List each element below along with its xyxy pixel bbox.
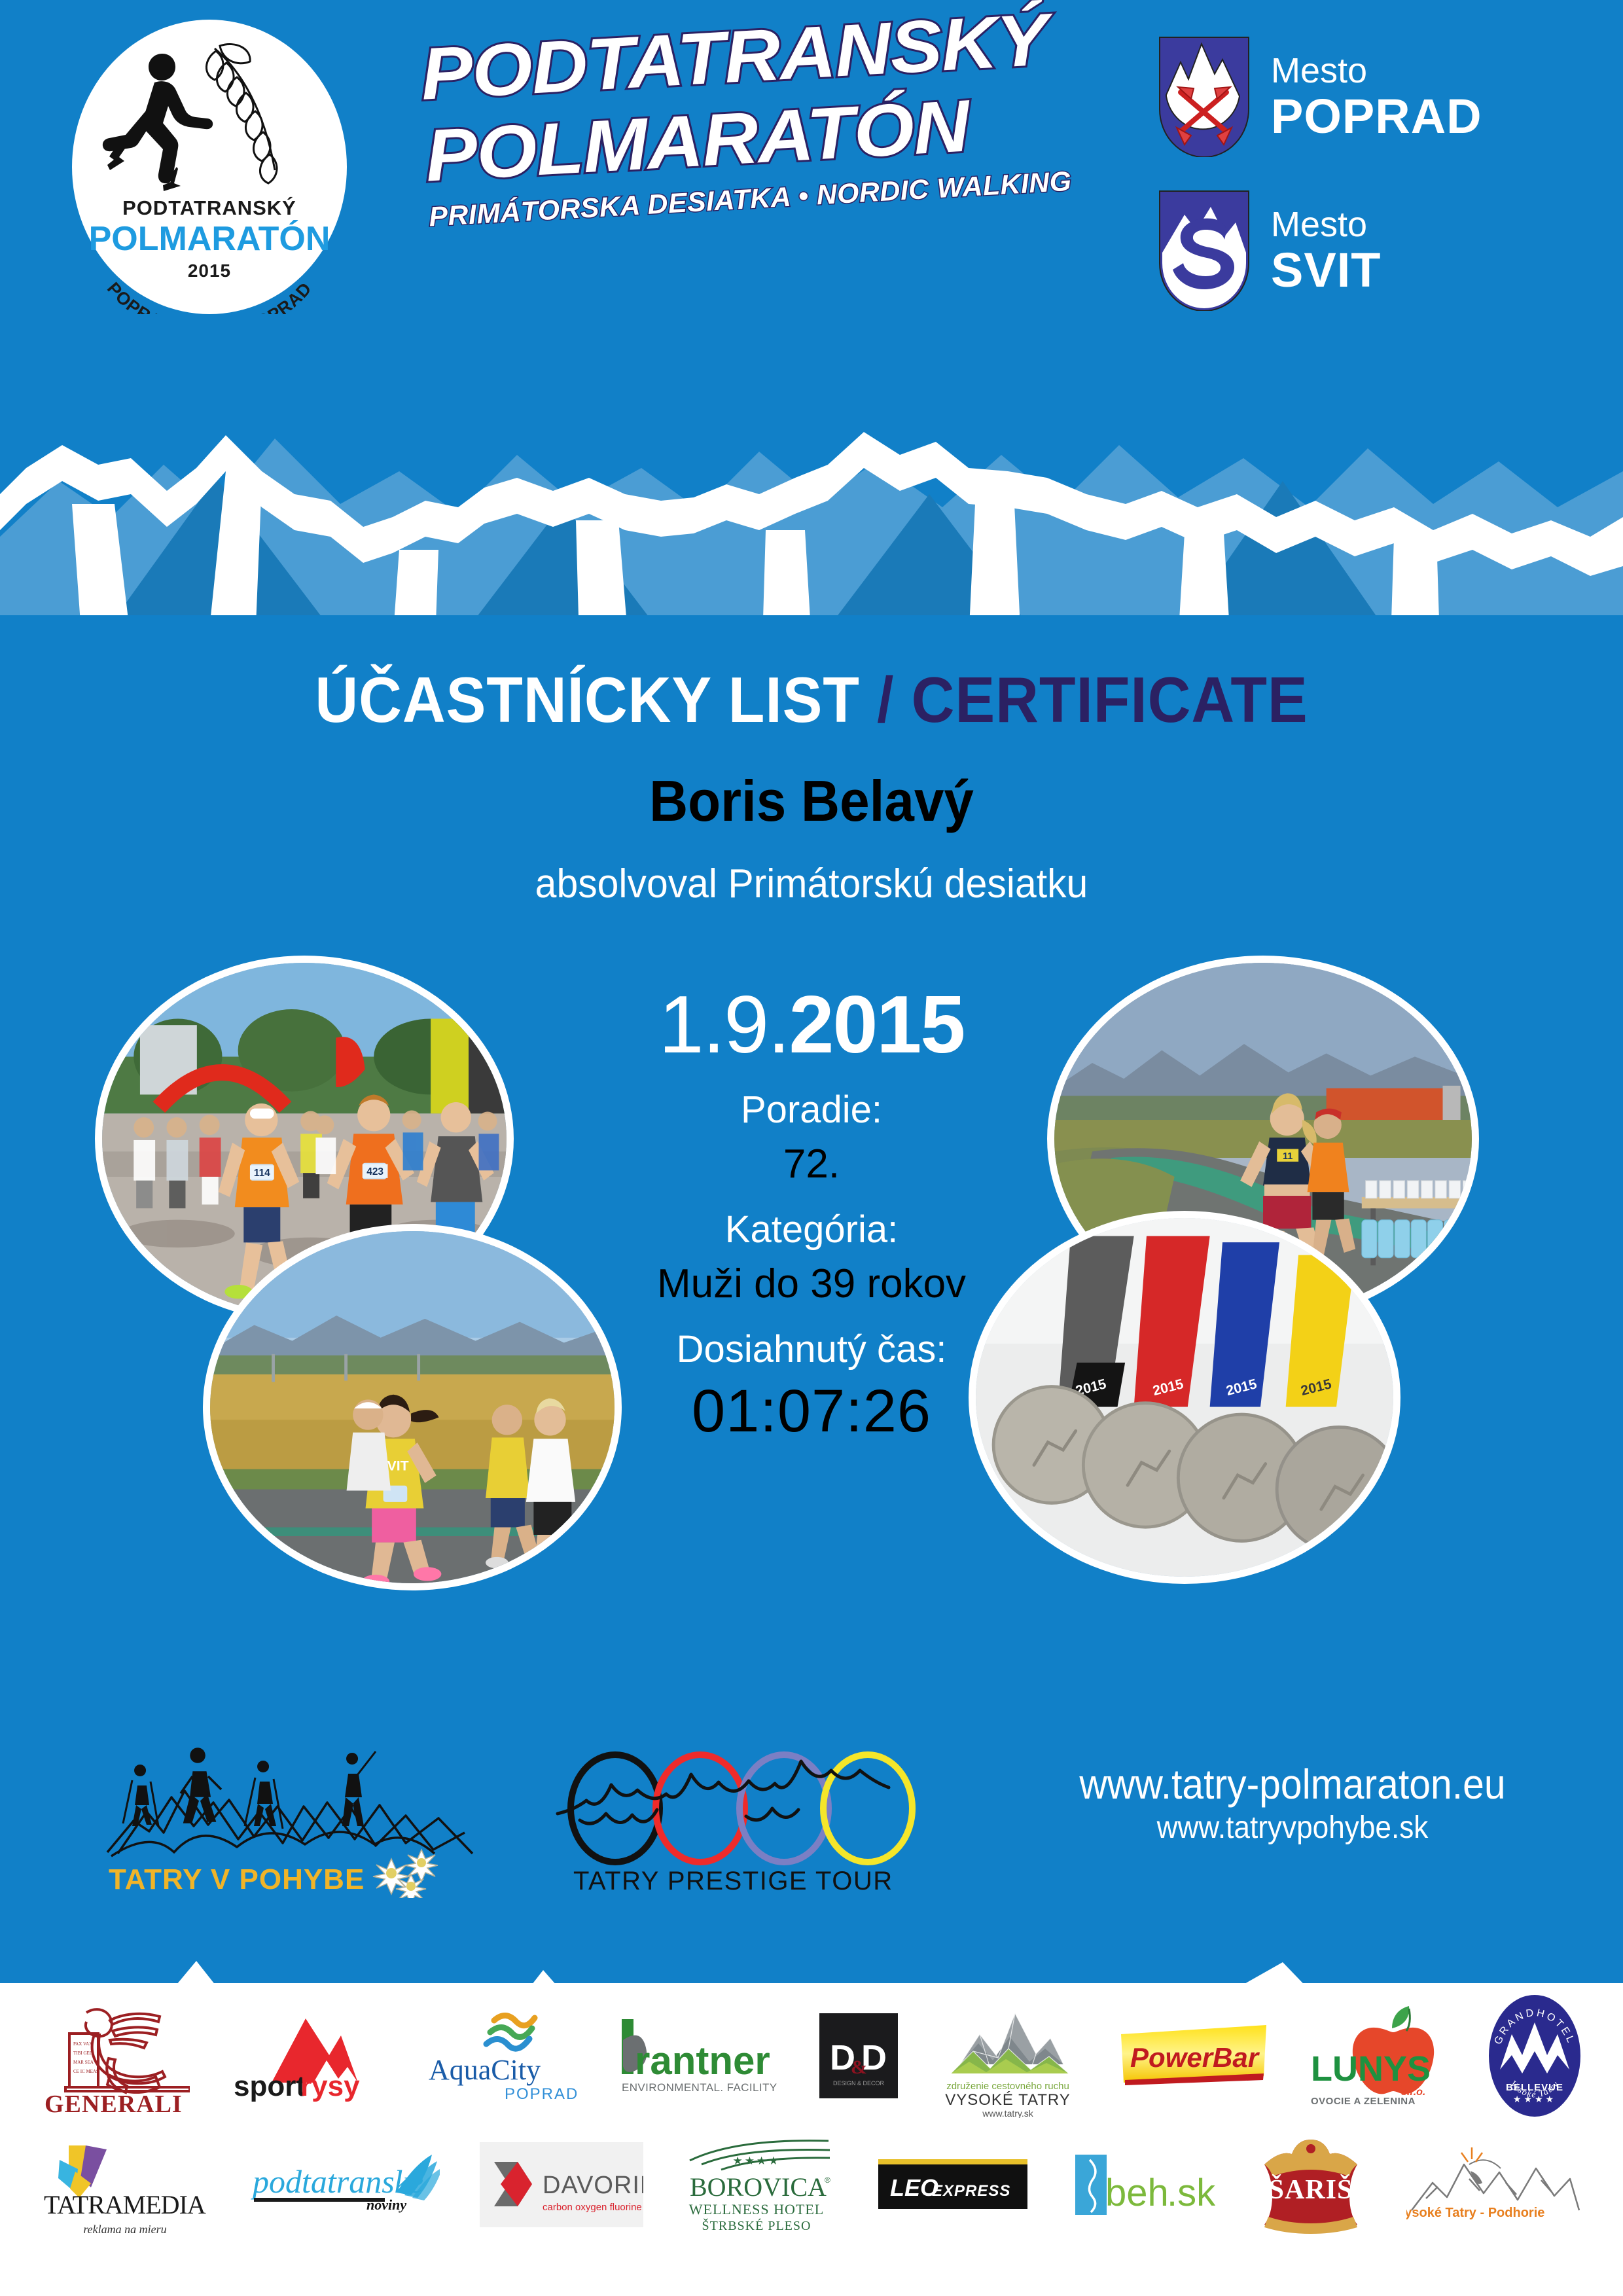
sponsor-podtatranske-tagline: noviny: [366, 2197, 406, 2213]
result-block: 1.9.2015 Poradie: 72. Kategória: Muži do…: [569, 982, 1054, 1444]
sponsor-davorin-tagline: carbon oxygen fluorine: [543, 2202, 642, 2213]
category-label: Kategória:: [569, 1206, 1054, 1254]
time-value: 01:07:26: [569, 1378, 1054, 1444]
event-date-year: 2015: [789, 980, 964, 1070]
sponsor-row-2: TATRAMEDIA reklama na mieru podtatranské…: [20, 2119, 1603, 2250]
badge-line-podtatransky: PODTATRANSKÝ: [72, 196, 347, 220]
sponsor-borovica-subtagline: ŠTRBSKÉ PLESO: [702, 2217, 811, 2233]
svg-text:PAX VAX: PAX VAX: [73, 2041, 92, 2047]
event-date-daymonth: 1.9.: [659, 980, 789, 1070]
event-title-block: PODTATRANSKÝ POLMARATÓN PRIMÁTORSKA DESI…: [419, 0, 1128, 323]
sponsor-leo-express[interactable]: LEO EXPRESS: [874, 2119, 1031, 2250]
url-primary[interactable]: www.tatry-polmaraton.eu: [988, 1761, 1596, 1809]
sponsor-powerbar[interactable]: PowerBar: [1118, 1992, 1269, 2119]
tatry-v-pohybe-label: TATRY V POHYBE: [109, 1863, 365, 1895]
edelweiss-icon: [373, 1850, 438, 1898]
sponsor-grandhotel-bellevue[interactable]: GRANDHOTEL BELLEVUE ★★★★ Vysoké Tatry: [1486, 1992, 1584, 2119]
sponsor-vysoke-tatry-podhorie-label: Vysoké Tatry - Podhorie: [1406, 2206, 1544, 2220]
sponsor-sportrysy-label: rysy: [300, 2070, 360, 2102]
svg-text:TIBI GELI: TIBI GELI: [73, 2051, 94, 2056]
sponsor-leo-label: LEO: [890, 2174, 938, 2201]
tatry-prestige-tour-label: TATRY PRESTIGE TOUR: [573, 1867, 893, 1895]
sponsor-aquacity[interactable]: AquaCity POPRAD: [426, 1992, 577, 2119]
svg-text:423: 423: [366, 1166, 383, 1177]
sponsor-lunys-label: LUNYS: [1311, 2049, 1431, 2089]
sponsor-tatramedia[interactable]: TATRAMEDIA reklama na mieru: [40, 2119, 210, 2250]
sponsor-footer: PAX VAXTIBI GELI MAR SEACE IC MEAS GENER…: [0, 1983, 1623, 2296]
sponsor-borovica-tagline: WELLNESS HOTEL: [689, 2201, 824, 2217]
city-logo-poprad: Mesto POPRAD: [1158, 36, 1482, 157]
sponsor-vysoke-tatry[interactable]: združenie cestovného ruchu VYSOKÉ TATRY …: [938, 1992, 1079, 2119]
certificate-title-separator: /: [860, 664, 912, 736]
city-name-poprad: POPRAD: [1271, 92, 1482, 141]
rank-value: 72.: [569, 1140, 1054, 1189]
sponsor-borovica[interactable]: ★★★★ BOROVICA ® WELLNESS HOTEL ŠTRBSKÉ P…: [683, 2119, 834, 2250]
sponsor-vysoke-tatry-url[interactable]: www.tatry.sk: [982, 2108, 1034, 2118]
sponsor-leo-tagline: EXPRESS: [932, 2182, 1010, 2200]
sponsor-brantner[interactable]: rantner ENVIRONMENTAL. FACILITY SERVICES: [616, 1992, 780, 2119]
svg-text:®: ®: [825, 2176, 830, 2185]
sponsor-vysoke-tatry-label: VYSOKÉ TATRY: [945, 2091, 1071, 2109]
participant-name: Boris Belavý: [57, 772, 1566, 830]
sponsor-saris[interactable]: ŠARIŠ: [1255, 2119, 1366, 2250]
poprad-coat-of-arms-icon: [1158, 36, 1250, 157]
website-urls: www.tatry-polmaraton.eu www.tatryvpohybe…: [962, 1761, 1623, 1846]
city-logo-svit: Mesto SVIT: [1158, 190, 1381, 311]
sponsor-tatramedia-tagline: reklama na mieru: [83, 2223, 166, 2236]
sponsor-sportrysy[interactable]: sport rysy: [230, 1992, 387, 2119]
sponsor-lunys[interactable]: LUNYS s.r.o. OVOCIE A ZELENINA: [1308, 1992, 1446, 2119]
sponsor-brantner-tagline: ENVIRONMENTAL. FACILITY SERVICES: [622, 2081, 780, 2094]
mountain-band-graphic: [0, 340, 1623, 641]
sponsor-behsk[interactable]: beh .sk: [1071, 2119, 1215, 2250]
sponsor-behsk-label: beh: [1105, 2172, 1169, 2214]
badge-route-arc: POPRAD - SVIT - POPRAD: [72, 245, 347, 314]
svg-text:CE IC MEAS: CE IC MEAS: [73, 2069, 99, 2074]
city-name-svit: SVIT: [1271, 246, 1381, 295]
svg-text:sport: sport: [234, 2070, 306, 2102]
tatry-prestige-tour-logo: TATRY PRESTIGE TOUR: [550, 1738, 955, 1901]
badge-route-text: POPRAD - SVIT - POPRAD: [103, 278, 315, 314]
url-secondary[interactable]: www.tatryvpohybe.sk: [988, 1809, 1596, 1847]
photo-field-road: SVIT: [203, 1224, 622, 1590]
sponsor-behsk-tagline: .sk: [1167, 2172, 1215, 2214]
tatry-v-pohybe-logo: TATRY V POHYBE: [98, 1734, 484, 1898]
sponsor-brantner-label: rantner: [635, 2039, 770, 2083]
svg-text:&: &: [851, 2056, 867, 2078]
svg-text:MAR SEA: MAR SEA: [73, 2060, 94, 2065]
sponsor-podtatranske-label: podtatranské: [251, 2163, 425, 2200]
time-label: Dosiahnutý čas:: [569, 1326, 1054, 1374]
sponsor-podtatranske-noviny[interactable]: podtatranské noviny: [250, 2119, 440, 2250]
sponsor-saris-label: ŠARIŠ: [1269, 2174, 1353, 2205]
svg-text:POPRAD - SVIT - POPRAD: POPRAD - SVIT - POPRAD: [103, 278, 315, 314]
svg-text:114: 114: [254, 1168, 270, 1179]
sponsor-tatramedia-label: TATRAMEDIA: [44, 2190, 206, 2219]
event-date: 1.9.2015: [569, 982, 1054, 1069]
city-prefix-svit: Mesto: [1271, 207, 1381, 242]
sponsor-aquacity-tagline: POPRAD: [505, 2085, 577, 2103]
sponsor-borovica-stars: ★★★★: [733, 2155, 781, 2167]
certificate-title: ÚČASTNÍCKY LIST / CERTIFICATE: [57, 668, 1566, 732]
sponsor-dd-tagline: DESIGN & DECOR: [833, 2080, 885, 2087]
sponsor-dd[interactable]: D D & DESIGN & DECOR: [819, 1992, 898, 2119]
poster-header: PODTATRANSKÝ POLMARATÓN 2015 POPRAD - SV…: [0, 0, 1623, 347]
certificate-poster: PODTATRANSKÝ POLMARATÓN 2015 POPRAD - SV…: [0, 0, 1623, 2296]
rank-label: Poradie:: [569, 1086, 1054, 1134]
event-badge-logo: PODTATRANSKÝ POLMARATÓN 2015 POPRAD - SV…: [72, 20, 347, 314]
sponsor-generali-label: GENERALI: [45, 2090, 183, 2115]
sponsor-davorin[interactable]: DAVORIN carbon oxygen fluorine: [480, 2119, 643, 2250]
sponsor-row-1: PAX VAXTIBI GELI MAR SEACE IC MEAS GENER…: [20, 1983, 1603, 2119]
sponsor-borovica-label: BOROVICA: [690, 2172, 827, 2202]
achievement-text: absolvoval Primátorskú desiatku: [41, 864, 1582, 905]
laurel-branch-icon: [196, 39, 301, 203]
sponsor-generali[interactable]: PAX VAXTIBI GELI MAR SEACE IC MEAS GENER…: [39, 1992, 190, 2119]
svg-text:11: 11: [1283, 1151, 1293, 1162]
sponsor-lunys-tagline: OVOCIE A ZELENINA: [1311, 2096, 1416, 2107]
certificate-title-sk: ÚČASTNÍCKY LIST: [315, 664, 860, 736]
sponsor-davorin-label: DAVORIN: [543, 2172, 643, 2199]
sponsor-vysoke-tatry-tagline: združenie cestovného ruchu: [946, 2081, 1069, 2092]
sponsor-vysoke-tatry-podhorie[interactable]: Vysoké Tatry - Podhorie: [1406, 2119, 1583, 2250]
svit-coat-of-arms-icon: [1158, 190, 1250, 311]
city-prefix-poprad: Mesto: [1271, 53, 1482, 88]
category-value: Muži do 39 rokov: [569, 1260, 1054, 1308]
sponsor-aquacity-label: AquaCity: [429, 2054, 541, 2086]
certificate-title-en: CERTIFICATE: [912, 664, 1308, 736]
sponsor-powerbar-label: PowerBar: [1130, 2042, 1260, 2073]
